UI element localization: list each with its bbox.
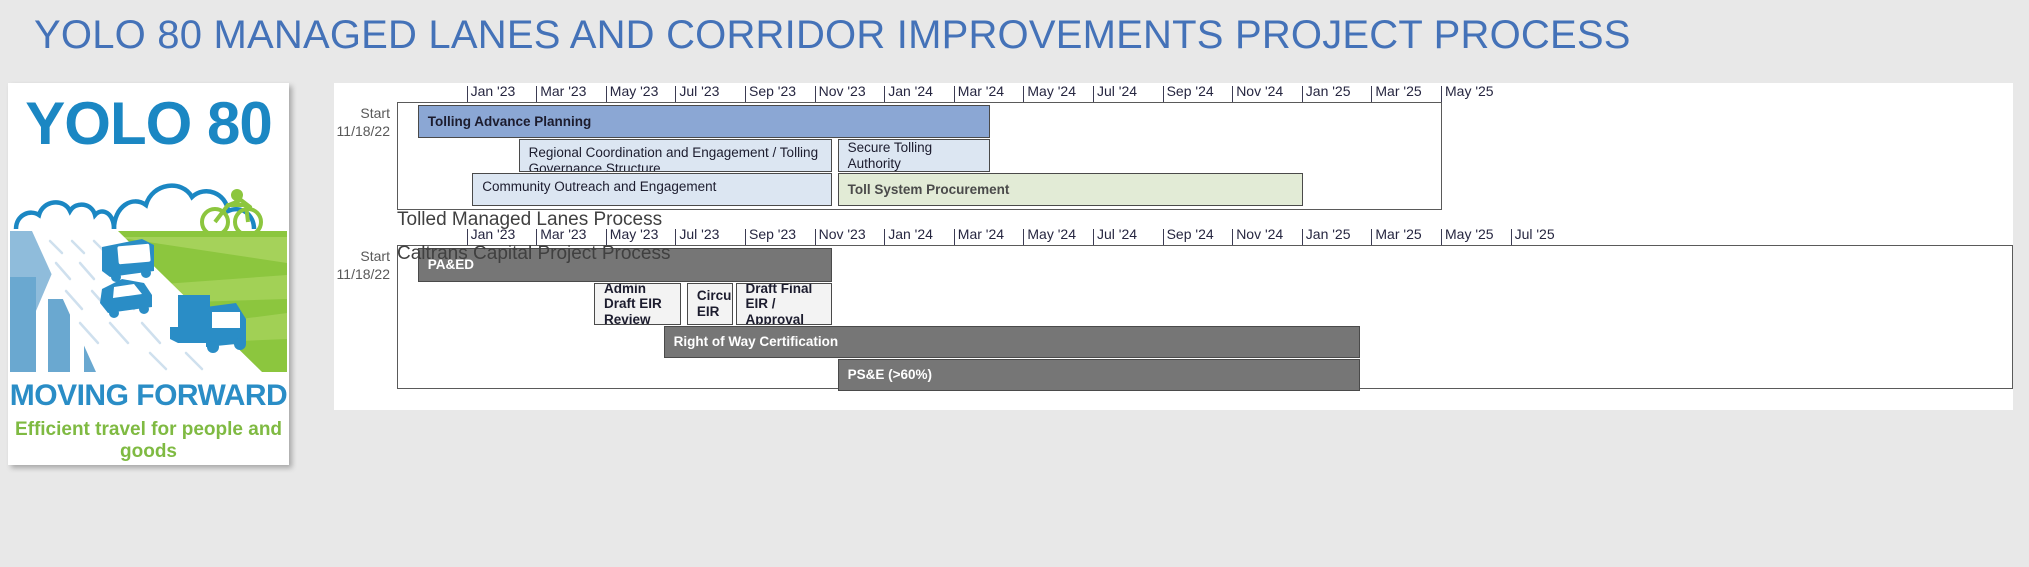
gantt-bar[interactable]: Draft Final EIR / Approval: [736, 283, 832, 325]
start-label-caltrans: Start 11/18/22: [334, 247, 390, 283]
axis-tick-line: [815, 229, 816, 245]
axis-tick-label: May '24: [1027, 226, 1076, 242]
axis-tick-label: May '25: [1445, 226, 1494, 242]
axis-tick-label: Sep '24: [1167, 226, 1214, 242]
axis-tick-line: [884, 86, 885, 102]
caption-caltrans-capital-project-process: Caltrans Capital Project Process: [397, 243, 671, 265]
axis-tick-line: [1023, 86, 1024, 102]
axis-tick-label: Jan '24: [888, 83, 933, 99]
axis-tick-label: Mar '25: [1375, 83, 1421, 99]
axis-tick-line: [675, 229, 676, 245]
axis-tick-line: [1023, 229, 1024, 245]
gantt-chart-tolled-managed-lanes: Start 11/18/22 Jan '23Mar '23May '23Jul …: [334, 83, 2013, 228]
logo-tagline: Efficient travel for people and goods: [8, 419, 289, 463]
logo-illustration: [10, 167, 287, 372]
axis-tick-line: [1441, 86, 1442, 102]
gantt-bar[interactable]: Right of Way Certification: [664, 326, 1360, 358]
axis-tick-label: May '23: [610, 226, 659, 242]
axis-tick-line: [1093, 86, 1094, 102]
axis-tick-label: May '23: [610, 83, 659, 99]
gantt-bar[interactable]: PS&E (>60%): [838, 359, 1360, 391]
gantt-bar[interactable]: Tolling Advance Planning: [418, 105, 990, 138]
axis-tick-line: [745, 229, 746, 245]
axis-tick-label: Nov '23: [819, 226, 866, 242]
charts-panel: Start 11/18/22 Jan '23Mar '23May '23Jul …: [334, 83, 2013, 410]
plot-area-tolled: Tolling Advance PlanningRegional Coordin…: [397, 102, 1442, 210]
yolo80-logo-card: YOLO 80: [8, 83, 289, 465]
axis-tick-line: [1302, 229, 1303, 245]
logo-headline: MOVING FORWARD: [8, 379, 289, 413]
axis-tick-line: [467, 86, 468, 102]
axis-tick-line: [884, 229, 885, 245]
axis-tick-label: May '25: [1445, 83, 1494, 99]
axis-tick-label: Nov '24: [1236, 226, 1283, 242]
axis-tick-label: Jan '24: [888, 226, 933, 242]
start-label-text: Start: [334, 104, 390, 122]
axis-tick-line: [1302, 86, 1303, 102]
axis-tick-label: Mar '24: [958, 226, 1004, 242]
axis-tick-line: [954, 86, 955, 102]
axis-tick-label: Mar '24: [958, 83, 1004, 99]
gantt-bar[interactable]: Admin Draft EIR Review: [594, 283, 681, 325]
axis-tick-line: [815, 86, 816, 102]
axis-tick-label: Jan '23: [471, 226, 516, 242]
axis-tick-label: Jan '25: [1306, 226, 1351, 242]
axis-tick-line: [1371, 229, 1372, 245]
start-label-tolled: Start 11/18/22: [334, 104, 390, 140]
logo-wordmark: YOLO 80: [8, 89, 289, 158]
axis-tick-label: Jul '25: [1515, 226, 1555, 242]
axis-tick-line: [1093, 229, 1094, 245]
axis-tick-line: [954, 229, 955, 245]
axis-tick-line: [1441, 229, 1442, 245]
axis-tick-line: [536, 86, 537, 102]
gantt-bar[interactable]: Regional Coordination and Engagement / T…: [519, 139, 832, 172]
axis-tick-label: Mar '25: [1375, 226, 1421, 242]
axis-tick-line: [1371, 86, 1372, 102]
start-label-text: Start: [334, 247, 390, 265]
axis-tick-label: Jan '25: [1306, 83, 1351, 99]
axis-tick-label: Jul '23: [679, 83, 719, 99]
axis-tick-label: Sep '23: [749, 226, 796, 242]
cloud-icon: [16, 186, 254, 229]
axis-tick-label: Mar '23: [540, 226, 586, 242]
axis-tick-label: Sep '24: [1167, 83, 1214, 99]
gantt-bar[interactable]: Secure Tolling Authority: [838, 139, 990, 172]
gantt-bar[interactable]: Toll System Procurement: [838, 173, 1303, 206]
plot-area-caltrans: PA&EDAdmin Draft EIR ReviewCirculate EIR…: [397, 245, 2013, 389]
axis-tick-label: Jul '24: [1097, 226, 1137, 242]
gantt-bar[interactable]: Community Outreach and Engagement: [472, 173, 832, 206]
axis-tick-label: May '24: [1027, 83, 1076, 99]
start-date-text: 11/18/22: [334, 122, 390, 140]
axis-tick-label: Jul '23: [679, 226, 719, 242]
page-title: YOLO 80 MANAGED LANES AND CORRIDOR IMPRO…: [34, 8, 1934, 62]
axis-tick-line: [675, 86, 676, 102]
axis-tick-label: Nov '24: [1236, 83, 1283, 99]
axis-tick-line: [1232, 86, 1233, 102]
axis-tick-label: Nov '23: [819, 83, 866, 99]
axis-tick-line: [1511, 229, 1512, 245]
gantt-bar[interactable]: Circulate EIR: [687, 283, 733, 325]
axis-tick-label: Mar '23: [540, 83, 586, 99]
axis-tick-line: [1232, 229, 1233, 245]
timeline-axis-tolled: Jan '23Mar '23May '23Jul '23Sep '23Nov '…: [334, 83, 2013, 102]
axis-tick-label: Jan '23: [471, 83, 516, 99]
axis-tick-label: Sep '23: [749, 83, 796, 99]
axis-tick-line: [1163, 86, 1164, 102]
axis-tick-label: Jul '24: [1097, 83, 1137, 99]
axis-tick-line: [745, 86, 746, 102]
axis-tick-line: [1163, 229, 1164, 245]
axis-tick-line: [606, 86, 607, 102]
start-date-text: 11/18/22: [334, 265, 390, 283]
